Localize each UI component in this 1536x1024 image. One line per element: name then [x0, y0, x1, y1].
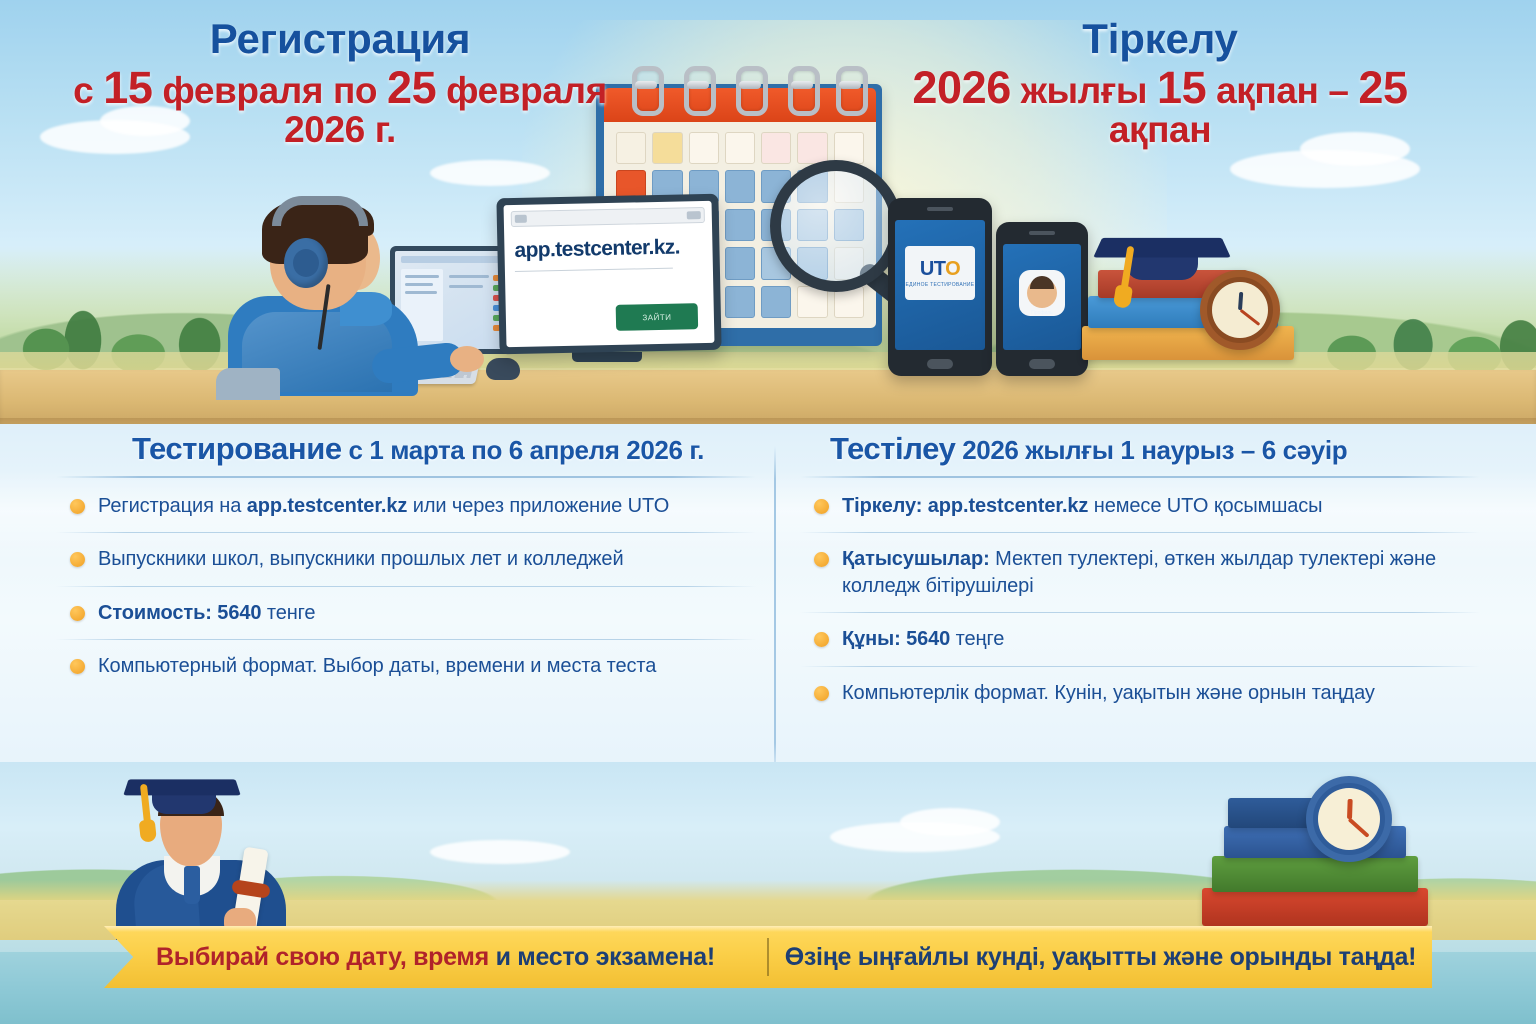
magnifier-icon	[770, 160, 902, 292]
ribbon-text-kazakh: Өзіңе ыңғайлы кунді, уақытты және орынды…	[769, 943, 1432, 972]
calendar-ring-4	[788, 66, 820, 116]
bullet-dot-icon	[814, 499, 829, 514]
header-kz-title: Тіркелу	[860, 18, 1460, 61]
mouse	[486, 358, 520, 380]
ru-date-end: 25	[387, 62, 436, 113]
graduate-illustration	[112, 768, 312, 938]
headphones-band-icon	[272, 196, 368, 226]
kz-date-end: 25	[1358, 62, 1407, 113]
uto-logo-subtitle: ЕДИНОЕ ТЕСТИРОВАНИЕ	[906, 282, 975, 288]
item-pre: Выпускники школ, выпускники прошлых лет …	[98, 548, 624, 570]
student-hand	[450, 346, 484, 372]
bullet-dot-icon	[814, 686, 829, 701]
ru-date-mid: февраля по	[153, 70, 387, 111]
header-kz-dates: 2026 жылғы 15 ақпан – 25 ақпан	[860, 65, 1460, 149]
uto-logo-o: O	[945, 258, 960, 280]
calendar-ring-1	[632, 66, 664, 116]
column-kazakh: Тестілеу 2026 жылғы 1 наурыз – 6 сәуір Т…	[800, 432, 1480, 719]
item-pre: Компьютерный формат. Выбор даты, времени…	[98, 655, 656, 677]
ru-date-post: февраля	[436, 70, 607, 111]
phone-speaker	[1029, 231, 1055, 235]
title-divider	[56, 476, 756, 478]
clock-minute-hand	[1239, 309, 1260, 326]
ribbon-ru-navy: и место экзамена!	[489, 943, 715, 971]
book-middle-green	[1212, 856, 1418, 892]
phone-speaker	[927, 207, 953, 211]
calendar-ring-2	[684, 66, 716, 116]
calendar-ring-3	[736, 66, 768, 116]
bullet-dot-icon	[70, 659, 85, 674]
infographic-poster: app.testcenter.kz. ЗАЙТИ UTO ЕДИНОЕ ТЕСТ…	[0, 0, 1536, 1024]
phone-uto-app: UTO ЕДИНОЕ ТЕСТИРОВАНИЕ	[888, 198, 992, 376]
list-item: Регистрация на app.testcenter.kz или чер…	[56, 480, 756, 532]
kz-word: жылғы	[1011, 70, 1157, 111]
header-ru-title: Регистрация	[60, 18, 620, 61]
ru-date-pre: с	[73, 70, 103, 111]
clock-hour-hand	[1347, 799, 1353, 819]
item-pre: Регистрация на	[98, 495, 247, 517]
student-with-headphones	[222, 196, 472, 396]
item-bold: Қатысушылар:	[842, 548, 990, 570]
phone-screen: UTO ЕДИНОЕ ТЕСТИРОВАНИЕ	[895, 220, 985, 350]
uto-logo-text: UTO	[920, 259, 960, 279]
clock-icon	[1200, 270, 1280, 350]
item-bold: app.testcenter.kz	[247, 495, 408, 517]
item-post: немесе UTO қосымшасы	[1088, 495, 1322, 517]
item-post: теңге	[950, 628, 1004, 650]
headphone-cup-icon	[284, 238, 328, 288]
bullet-dot-icon	[70, 499, 85, 514]
clock-face	[1212, 282, 1268, 338]
bullet-dot-icon	[70, 606, 85, 621]
col-ru-title-main: Тестирование	[132, 431, 342, 466]
graduate-necktie	[184, 866, 200, 904]
column-russian: Тестирование с 1 марта по 6 апреля 2026 …	[56, 432, 756, 693]
col-kz-title-rest: 2026 жылғы 1 наурыз – 6 сәуір	[955, 435, 1347, 465]
item-pre: Компьютерлік формат. Кунін, уақытын және…	[842, 682, 1375, 704]
kz-year: 2026	[912, 62, 1011, 113]
col-ru-title: Тестирование с 1 марта по 6 апреля 2026 …	[56, 432, 756, 466]
browser-login-button[interactable]: ЗАЙТИ	[616, 303, 699, 331]
list-item: Стоимость: 5640 тенге	[56, 587, 756, 639]
cloud-5	[430, 160, 550, 186]
browser-address-bar[interactable]	[511, 207, 705, 227]
browser-underline	[515, 268, 673, 272]
kz-bullet-list: Тіркелу: app.testcenter.kz немесе UTO қо…	[800, 480, 1480, 719]
list-item: Компьютерлік формат. Кунін, уақытын және…	[800, 667, 1480, 719]
list-item: Тіркелу: app.testcenter.kz немесе UTO қо…	[800, 480, 1480, 532]
title-divider	[800, 476, 1480, 478]
phone-screen: Профиль	[1003, 244, 1081, 350]
cap-books-clock-illustration	[1082, 222, 1302, 372]
col-kz-title: Тестілеу 2026 жылғы 1 наурыз – 6 сәуір	[800, 432, 1480, 466]
phone-home-button[interactable]	[1029, 359, 1055, 369]
browser-url-text: app.testcenter.kz.	[514, 235, 702, 263]
header-ru-dates: с 15 февраля по 25 февраля	[60, 65, 620, 111]
list-item: Қатысушылар: Мектеп тулектері, өткен жыл…	[800, 533, 1480, 612]
browser-window: app.testcenter.kz. ЗАЙТИ	[504, 201, 715, 347]
bottom-ribbon-banner: Выбирай свою дату, время и место экзамен…	[104, 926, 1432, 988]
uto-app-card: UTO ЕДИНОЕ ТЕСТИРОВАНИЕ	[905, 246, 975, 300]
bullet-dot-icon	[814, 552, 829, 567]
kz-date-start: 15	[1157, 62, 1206, 113]
clock-face	[1318, 788, 1380, 850]
cap-board	[1093, 238, 1231, 258]
item-post: тенге	[261, 602, 315, 624]
list-item: Выпускники школ, выпускники прошлых лет …	[56, 533, 756, 585]
list-item: Компьютерный формат. Выбор даты, времени…	[56, 640, 756, 692]
books-clock-illustration	[1198, 772, 1448, 937]
url-trailing-dot: .	[674, 236, 680, 259]
item-bold: Стоимость: 5640	[98, 602, 261, 624]
avatar	[1027, 278, 1057, 308]
header-russian: Регистрация с 15 февраля по 25 февраля 2…	[60, 18, 620, 148]
kz-month-2: ақпан	[1109, 109, 1211, 150]
ribbon-ru-red: Выбирай свою дату, время	[156, 943, 489, 971]
clock-minute-hand	[1348, 818, 1370, 838]
url-value: app.testcenter.kz	[514, 236, 675, 262]
ribbon-separator	[767, 938, 769, 976]
phone-home-button[interactable]	[927, 359, 953, 369]
ribbon-text-russian: Выбирай свою дату, время и место экзамен…	[104, 943, 767, 972]
bullet-dot-icon	[814, 632, 829, 647]
main-monitor-stand	[572, 352, 642, 362]
col-ru-title-rest: с 1 марта по 6 апреля 2026 г.	[342, 435, 704, 465]
item-bold: Құны: 5640	[842, 628, 950, 650]
ru-bullet-list: Регистрация на app.testcenter.kz или чер…	[56, 480, 756, 693]
header-kazakh: Тіркелу 2026 жылғы 15 ақпан – 25 ақпан	[860, 18, 1460, 148]
column-divider	[774, 446, 776, 776]
header-ru-year: 2026 г.	[60, 111, 620, 149]
phone-profile-app: Профиль	[996, 222, 1088, 376]
clock-hour-hand	[1238, 292, 1243, 310]
list-item: Құны: 5640 теңге	[800, 613, 1480, 665]
bullet-dot-icon	[70, 552, 85, 567]
profile-app-label: Профиль	[1031, 310, 1053, 316]
main-monitor: app.testcenter.kz. ЗАЙТИ	[496, 194, 721, 355]
ru-date-start: 15	[103, 62, 152, 113]
kz-month-1: ақпан –	[1206, 70, 1358, 111]
book-bottom-red	[1202, 888, 1428, 926]
item-post: или через приложение UTO	[407, 495, 669, 517]
col-kz-title-main: Тестілеу	[830, 431, 955, 466]
item-bold: Тіркелу: app.testcenter.kz	[842, 495, 1088, 517]
alarm-clock-icon	[1306, 776, 1392, 862]
chair-back	[216, 368, 280, 400]
